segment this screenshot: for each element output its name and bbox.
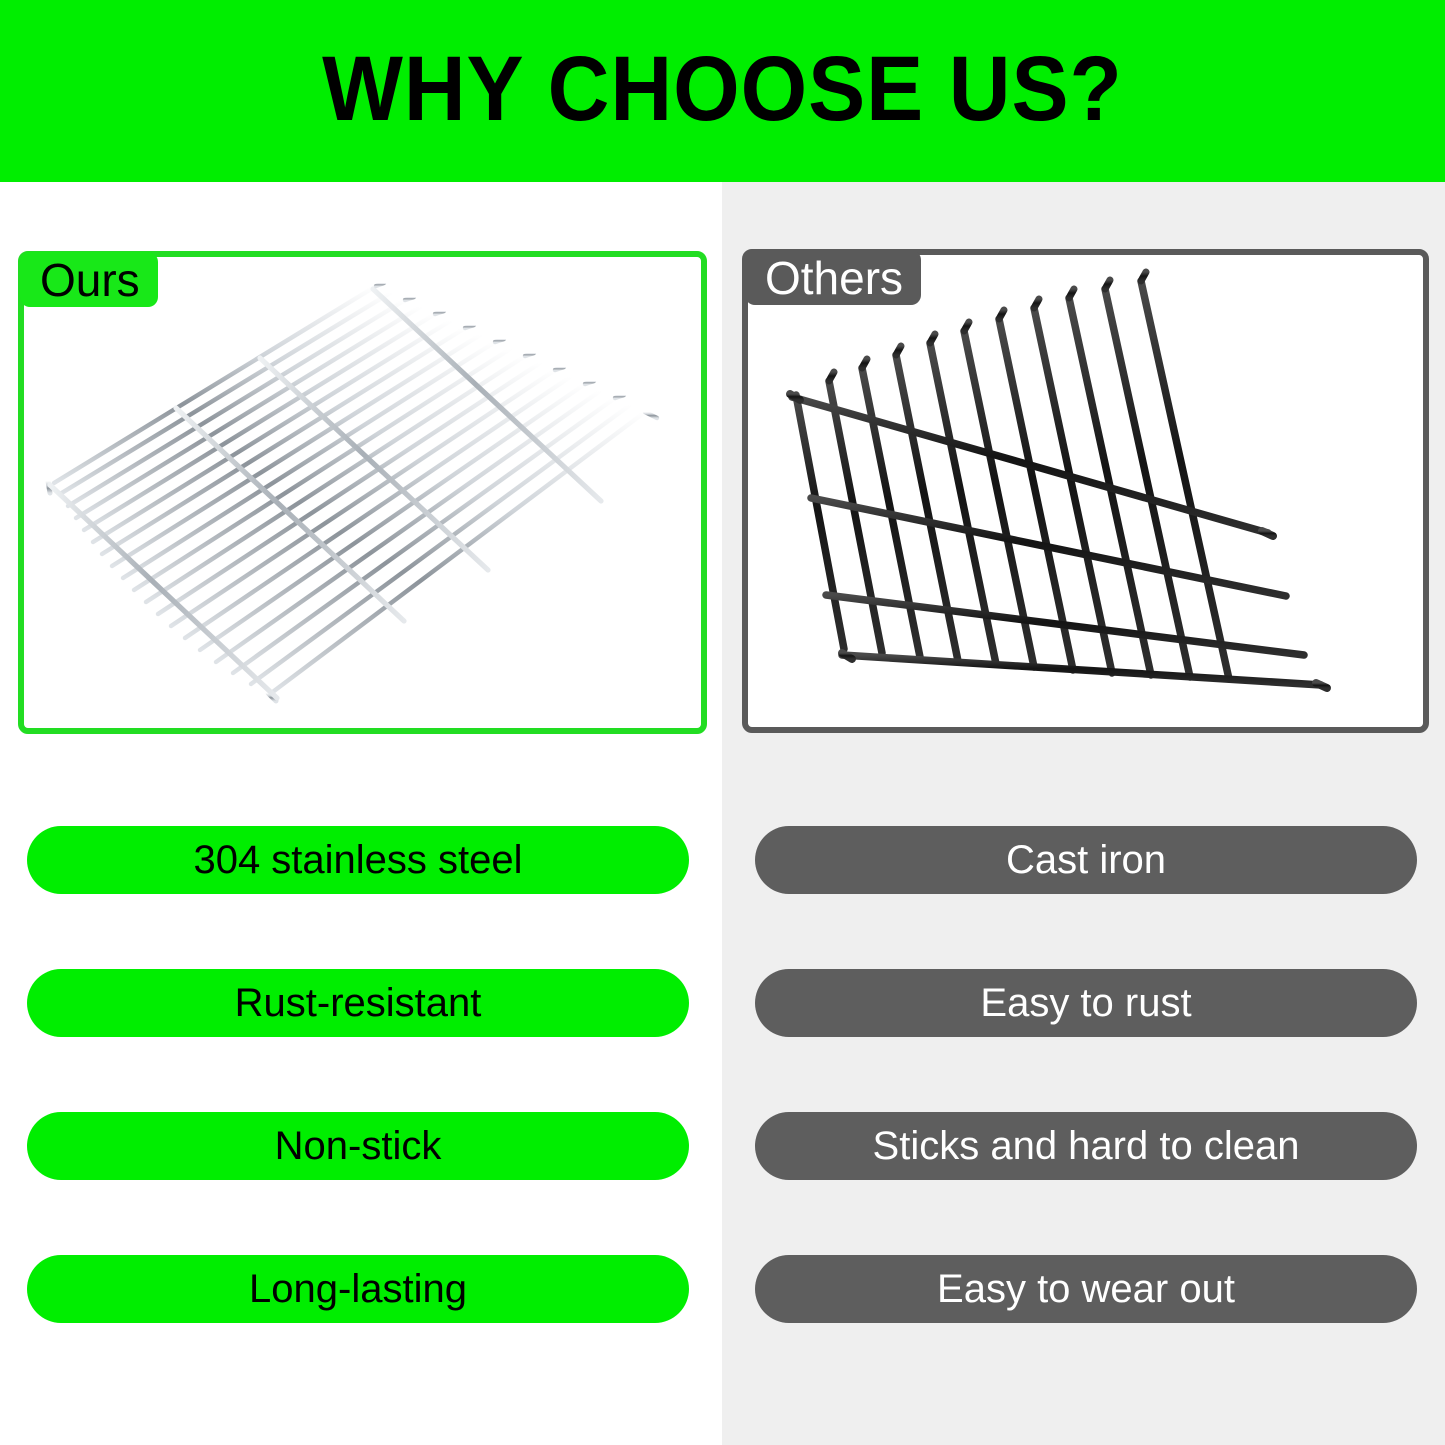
ours-feature-label: Long-lasting bbox=[249, 1269, 467, 1309]
cast-iron-grill-grate-image bbox=[748, 255, 1423, 727]
ours-feature-pill: Rust-resistant bbox=[27, 969, 689, 1037]
ours-feature-pill: Non-stick bbox=[27, 1112, 689, 1180]
others-product-card bbox=[742, 249, 1429, 733]
badge-ours-label: Ours bbox=[40, 257, 140, 303]
stainless-steel-grill-grate-image bbox=[24, 257, 701, 728]
ours-product-card bbox=[18, 251, 707, 734]
others-feature-label: Easy to rust bbox=[980, 983, 1191, 1023]
ours-feature-label: Non-stick bbox=[275, 1126, 442, 1166]
ours-feature-label: 304 stainless steel bbox=[193, 840, 522, 880]
ours-feature-label: Rust-resistant bbox=[235, 983, 482, 1023]
others-feature-pill: Cast iron bbox=[755, 826, 1417, 894]
comparison-infographic: WHY CHOOSE US? bbox=[0, 0, 1445, 1445]
badge-others-label: Others bbox=[765, 255, 903, 301]
others-feature-pill: Easy to wear out bbox=[755, 1255, 1417, 1323]
others-feature-pill: Sticks and hard to clean bbox=[755, 1112, 1417, 1180]
header-banner: WHY CHOOSE US? bbox=[0, 0, 1445, 182]
others-feature-label: Easy to wear out bbox=[937, 1269, 1235, 1309]
others-feature-label: Sticks and hard to clean bbox=[873, 1126, 1300, 1166]
badge-others: Others bbox=[745, 250, 921, 305]
others-feature-pill: Easy to rust bbox=[755, 969, 1417, 1037]
others-feature-label: Cast iron bbox=[1006, 840, 1166, 880]
page-title: WHY CHOOSE US? bbox=[322, 43, 1123, 135]
badge-ours: Ours bbox=[20, 252, 158, 307]
ours-feature-pill: Long-lasting bbox=[27, 1255, 689, 1323]
ours-feature-pill: 304 stainless steel bbox=[27, 826, 689, 894]
